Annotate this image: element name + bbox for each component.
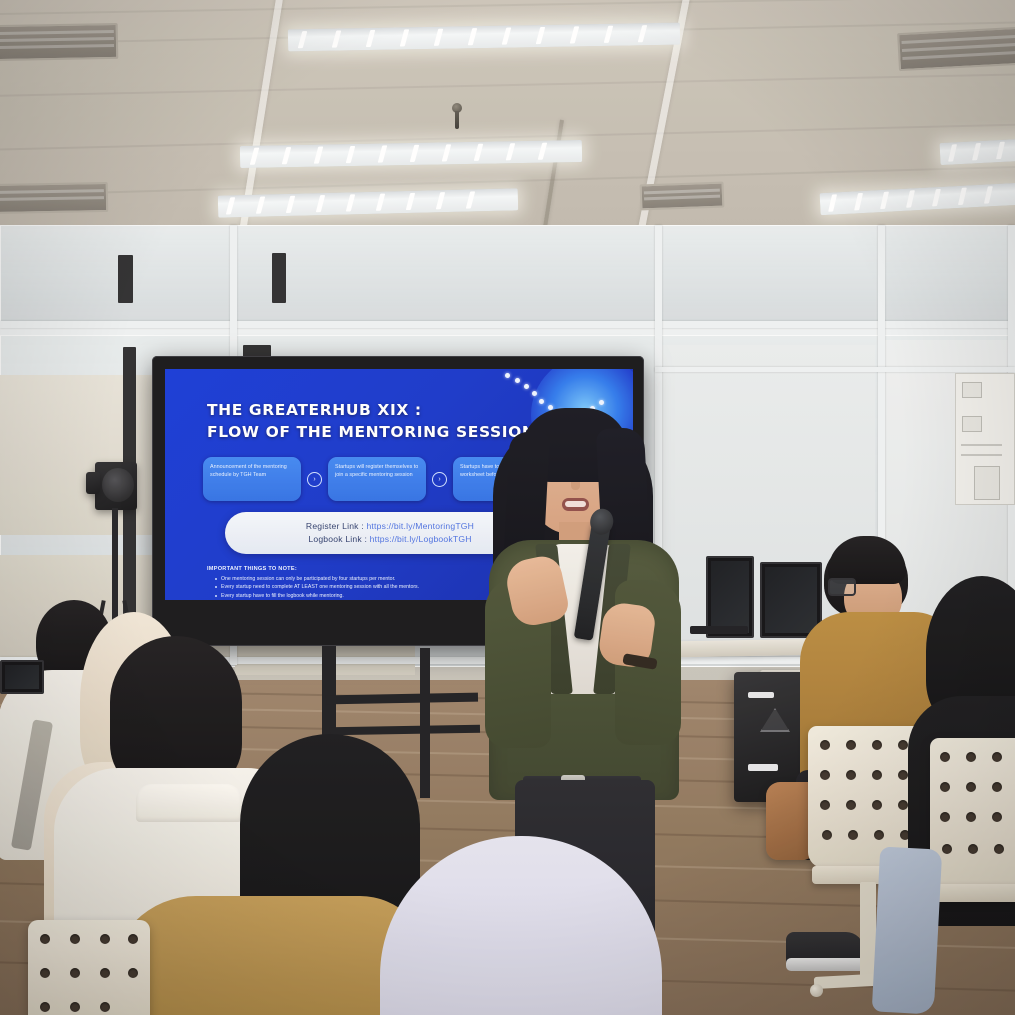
denim-jacket-draped [872, 846, 943, 1014]
structural-post [118, 255, 133, 303]
pa-speaker-body [86, 472, 100, 494]
chair-caster[interactable] [810, 984, 823, 997]
audience-hijab [380, 836, 662, 1015]
flow-step-1: Announcement of the mentoring schedule b… [203, 457, 301, 501]
speaker-cone-icon [102, 468, 134, 502]
register-link-line: Register Link : https://bit.ly/Mentoring… [306, 520, 474, 533]
ceiling-light-1 [288, 23, 680, 52]
air-vent-1 [0, 23, 118, 61]
chair[interactable] [930, 738, 1015, 1015]
chevron-right-icon: › [307, 472, 322, 487]
ceiling-light-5 [820, 183, 1015, 215]
chevron-right-icon: › [432, 472, 447, 487]
wall-poster [955, 373, 1015, 505]
audience-lilac-hijab [380, 836, 670, 1015]
ceiling-light-2 [240, 140, 582, 168]
ceiling [0, 0, 1015, 232]
logbook-link-line: Logbook Link : https://bit.ly/LogbookTGH [308, 533, 471, 546]
air-vent-2 [897, 27, 1015, 71]
chair-back [28, 920, 150, 1015]
window-frame-horizontal [0, 321, 1015, 328]
ceiling-light-4 [940, 137, 1015, 165]
structural-post [272, 253, 286, 303]
window-frame-horizontal [655, 367, 1015, 372]
flow-step-2: Startups will register themselves to joi… [328, 457, 426, 501]
chair-seat [932, 884, 1015, 902]
chair-back [930, 738, 1015, 886]
air-vent-4 [640, 182, 725, 211]
shirt-collar [136, 784, 242, 822]
monitor [0, 660, 44, 694]
sprinkler-head-icon [452, 103, 462, 113]
chair[interactable] [28, 920, 158, 1015]
glasses-icon [828, 578, 856, 596]
photo-scene: THE GREATERHUB XIX : FLOW OF THE MENTORI… [0, 0, 1015, 1015]
ceiling-light-3 [218, 188, 518, 217]
air-vent-3 [0, 182, 108, 214]
audience-hair-top [828, 536, 906, 584]
logbook-link-label: Logbook Link : [308, 534, 367, 544]
register-link-label: Register Link : [306, 521, 364, 531]
